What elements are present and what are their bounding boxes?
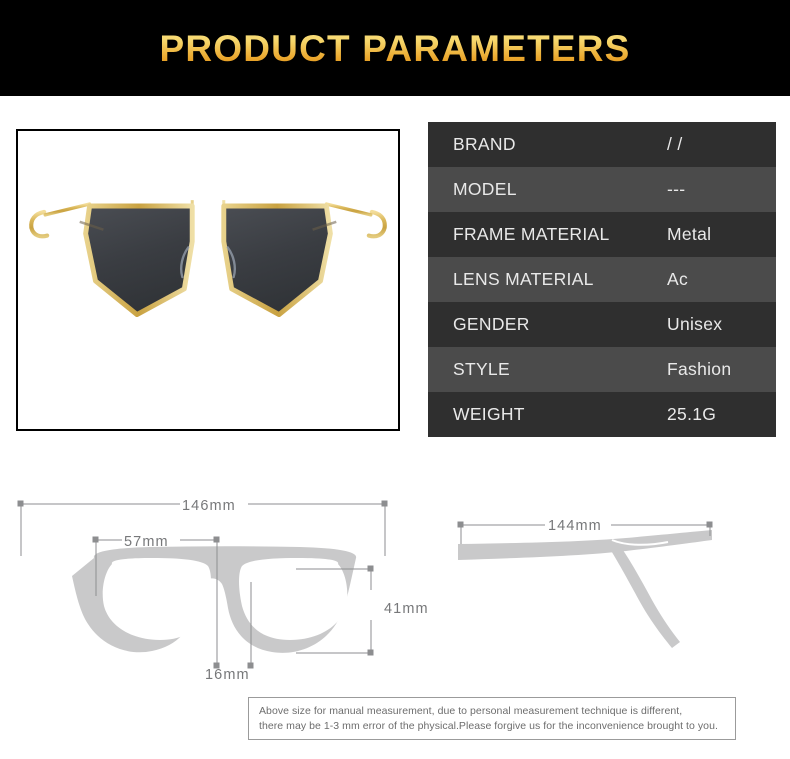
spec-value: Ac <box>661 257 776 302</box>
disclaimer-line-2: there may be 1-3 mm error of the physica… <box>259 719 725 734</box>
table-row: MODEL --- <box>428 167 776 212</box>
spec-value: Unisex <box>661 302 776 347</box>
table-row: GENDER Unisex <box>428 302 776 347</box>
spec-label: STYLE <box>428 347 661 392</box>
dimension-diagrams: 146mm 57mm 16mm 41mm 144mm <box>0 460 790 690</box>
dim-label-temple-length: 144mm <box>548 518 602 534</box>
table-row: WEIGHT 25.1G <box>428 392 776 437</box>
spec-value: Fashion <box>661 347 776 392</box>
header-band: PRODUCT PARAMETERS <box>0 0 790 96</box>
spec-label: FRAME MATERIAL <box>428 212 661 257</box>
spec-value: / / <box>661 122 776 167</box>
spec-label: WEIGHT <box>428 392 661 437</box>
table-row: LENS MATERIAL Ac <box>428 257 776 302</box>
table-row: FRAME MATERIAL Metal <box>428 212 776 257</box>
dim-label-lens-height: 41mm <box>384 601 429 617</box>
temple-arm-silhouette <box>458 530 712 648</box>
table-row: BRAND / / <box>428 122 776 167</box>
measurement-disclaimer: Above size for manual measurement, due t… <box>248 697 736 740</box>
spec-label: LENS MATERIAL <box>428 257 661 302</box>
product-photo-panel <box>16 129 400 431</box>
front-frame-silhouette <box>72 546 356 653</box>
dim-label-bridge-width: 16mm <box>205 667 250 683</box>
dim-label-lens-width: 57mm <box>124 534 169 550</box>
spec-label: MODEL <box>428 167 661 212</box>
spec-value: --- <box>661 167 776 212</box>
table-row: STYLE Fashion <box>428 347 776 392</box>
spec-value: 25.1G <box>661 392 776 437</box>
product-spec-table: BRAND / / MODEL --- FRAME MATERIAL Metal… <box>428 122 776 437</box>
dim-label-total-width: 146mm <box>182 498 236 514</box>
dimension-drawing <box>0 460 790 690</box>
spec-label: BRAND <box>428 122 661 167</box>
spec-label: GENDER <box>428 302 661 347</box>
page-title: PRODUCT PARAMETERS <box>0 27 790 71</box>
sunglasses-product-image <box>18 131 398 429</box>
spec-value: Metal <box>661 212 776 257</box>
disclaimer-line-1: Above size for manual measurement, due t… <box>259 704 725 719</box>
